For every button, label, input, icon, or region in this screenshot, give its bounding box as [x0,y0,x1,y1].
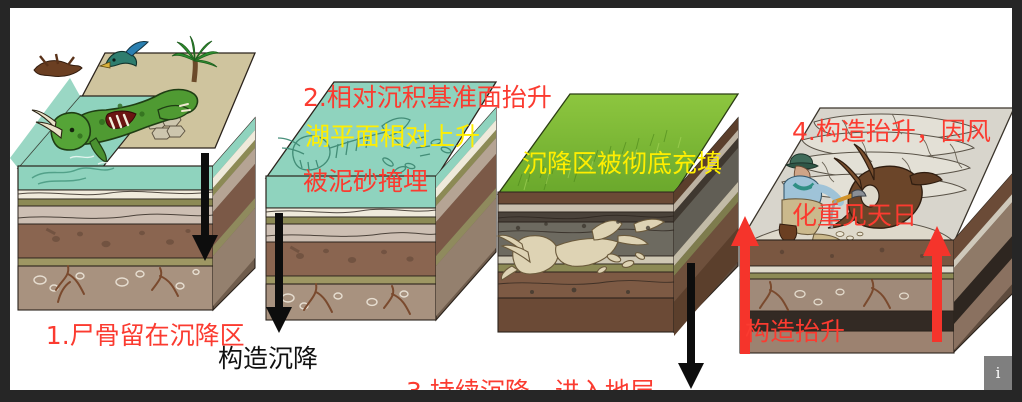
diagram-frame: 1.尸骨留在沉降区 2.相对沉积基准面抬升 被泥砂掩埋 湖平面相对上升 沉降区被… [0,0,1022,402]
label-tectonic-subsidence: 构造沉降 [218,345,318,373]
subsidence-arrow-1 [188,153,222,263]
step-2-number: 2. [303,83,327,112]
label-step-3: 3.持续沉降，进入地层 成为化石 [406,322,655,390]
step-2-text: 相对沉积基准面抬升 [327,83,552,112]
step-4-text: 构造抬升，因风 [816,117,991,146]
step-2-line-1: 2.相对沉积基准面抬升 [303,84,552,112]
label-tectonic-uplift: 构造抬升 [745,318,845,346]
subsidence-arrow-2 [262,213,296,335]
subsidence-arrow-3 [674,263,708,390]
info-icon[interactable]: i [984,356,1012,390]
label-basin-filled: 沉降区被彻底充填 [522,150,722,178]
label-step-1: 1.尸骨留在沉降区 [14,294,245,378]
step-3-line-1: 3.持续沉降，进入地层 [406,378,655,390]
panel-1-illustration [10,18,260,318]
step-4-line-1: 4.构造抬升，因风 [792,118,991,146]
step-2-line-2: 被泥砂掩埋 [303,168,552,196]
diagram-canvas: 1.尸骨留在沉降区 2.相对沉积基准面抬升 被泥砂掩埋 湖平面相对上升 沉降区被… [10,8,1012,390]
step-4-number: 4. [792,117,816,146]
step-3-text: 持续沉降，进入地层 [430,377,655,390]
step-3-number: 3. [406,377,430,390]
step-1-number: 1. [46,321,70,350]
panel-1-deposition [10,18,260,318]
label-lake-level-rise: 湖平面相对上升 [305,123,480,151]
label-step-4: 4.构造抬升，因风 化重见天日 [792,62,991,286]
step-4-line-2: 化重见天日 [792,202,991,230]
